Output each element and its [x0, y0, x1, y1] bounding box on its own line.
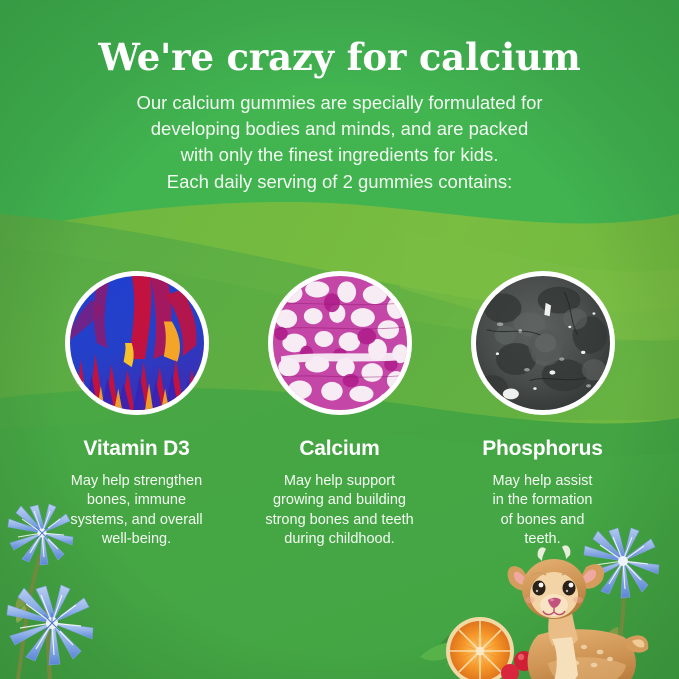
description-line: in the formation	[454, 491, 632, 510]
subtitle-line: with only the finest ingredients for kid…	[0, 142, 679, 168]
green-leaves-illustration	[420, 624, 618, 668]
header-subtitle: Our calcium gummies are specially formul…	[0, 77, 679, 195]
description-line: systems, and overall	[48, 511, 226, 530]
deer-fawn-illustration	[508, 545, 649, 679]
description-line: of bones and	[454, 511, 632, 530]
ingredient-card-vitamin-d3: Vitamin D3 May help strengthen bones, im…	[35, 271, 238, 550]
description-line: growing and building	[251, 491, 429, 510]
description-line: bones, immune	[48, 491, 226, 510]
description-line: May help assist	[454, 472, 632, 491]
ingredient-card-list: Vitamin D3 May help strengthen bones, im…	[0, 271, 679, 550]
orange-slice-illustration	[446, 617, 514, 679]
phosphorus-mineral-micrograph-image	[476, 276, 610, 410]
deer-ear-right	[578, 564, 604, 589]
circle-frame	[65, 271, 209, 415]
ingredient-card-phosphorus: Phosphorus May help assist in the format…	[441, 271, 644, 550]
description-line: during childhood.	[251, 530, 429, 549]
description-line: strong bones and teeth	[251, 511, 429, 530]
ingredient-card-calcium: Calcium May help support growing and bui…	[238, 271, 441, 550]
header-block: We're crazy for calcium Our calcium gumm…	[0, 0, 679, 195]
circle-frame	[268, 271, 412, 415]
ingredient-name: Calcium	[299, 415, 379, 461]
circle-frame	[471, 271, 615, 415]
chicory-flower-lower	[7, 585, 93, 665]
subtitle-line: Each daily serving of 2 gummies contains…	[0, 169, 679, 195]
description-line: well-being.	[48, 530, 226, 549]
ingredient-name: Phosphorus	[482, 415, 603, 461]
red-berries-illustration	[501, 651, 568, 679]
description-line: May help strengthen	[48, 472, 226, 491]
deer-eye-left	[533, 581, 546, 596]
description-line: May help support	[251, 472, 429, 491]
subtitle-line: Our calcium gummies are specially formul…	[0, 90, 679, 116]
page-title: We're crazy for calcium	[0, 0, 679, 77]
deer-eye-right	[563, 581, 576, 596]
deer-ear-left	[508, 566, 534, 591]
ingredient-description: May help strengthen bones, immune system…	[48, 461, 226, 550]
ingredient-description: May help support growing and building st…	[251, 461, 429, 550]
subtitle-line: developing bodies and minds, and are pac…	[0, 116, 679, 142]
vitamin-d3-crystal-micrograph-image	[70, 276, 204, 410]
product-benefits-poster: We're crazy for calcium Our calcium gumm…	[0, 0, 679, 679]
ingredient-description: May help assist in the formation of bone…	[454, 461, 632, 550]
calcium-tissue-micrograph-image	[273, 276, 407, 410]
description-line: teeth.	[454, 530, 632, 549]
ingredient-name: Vitamin D3	[83, 415, 189, 461]
